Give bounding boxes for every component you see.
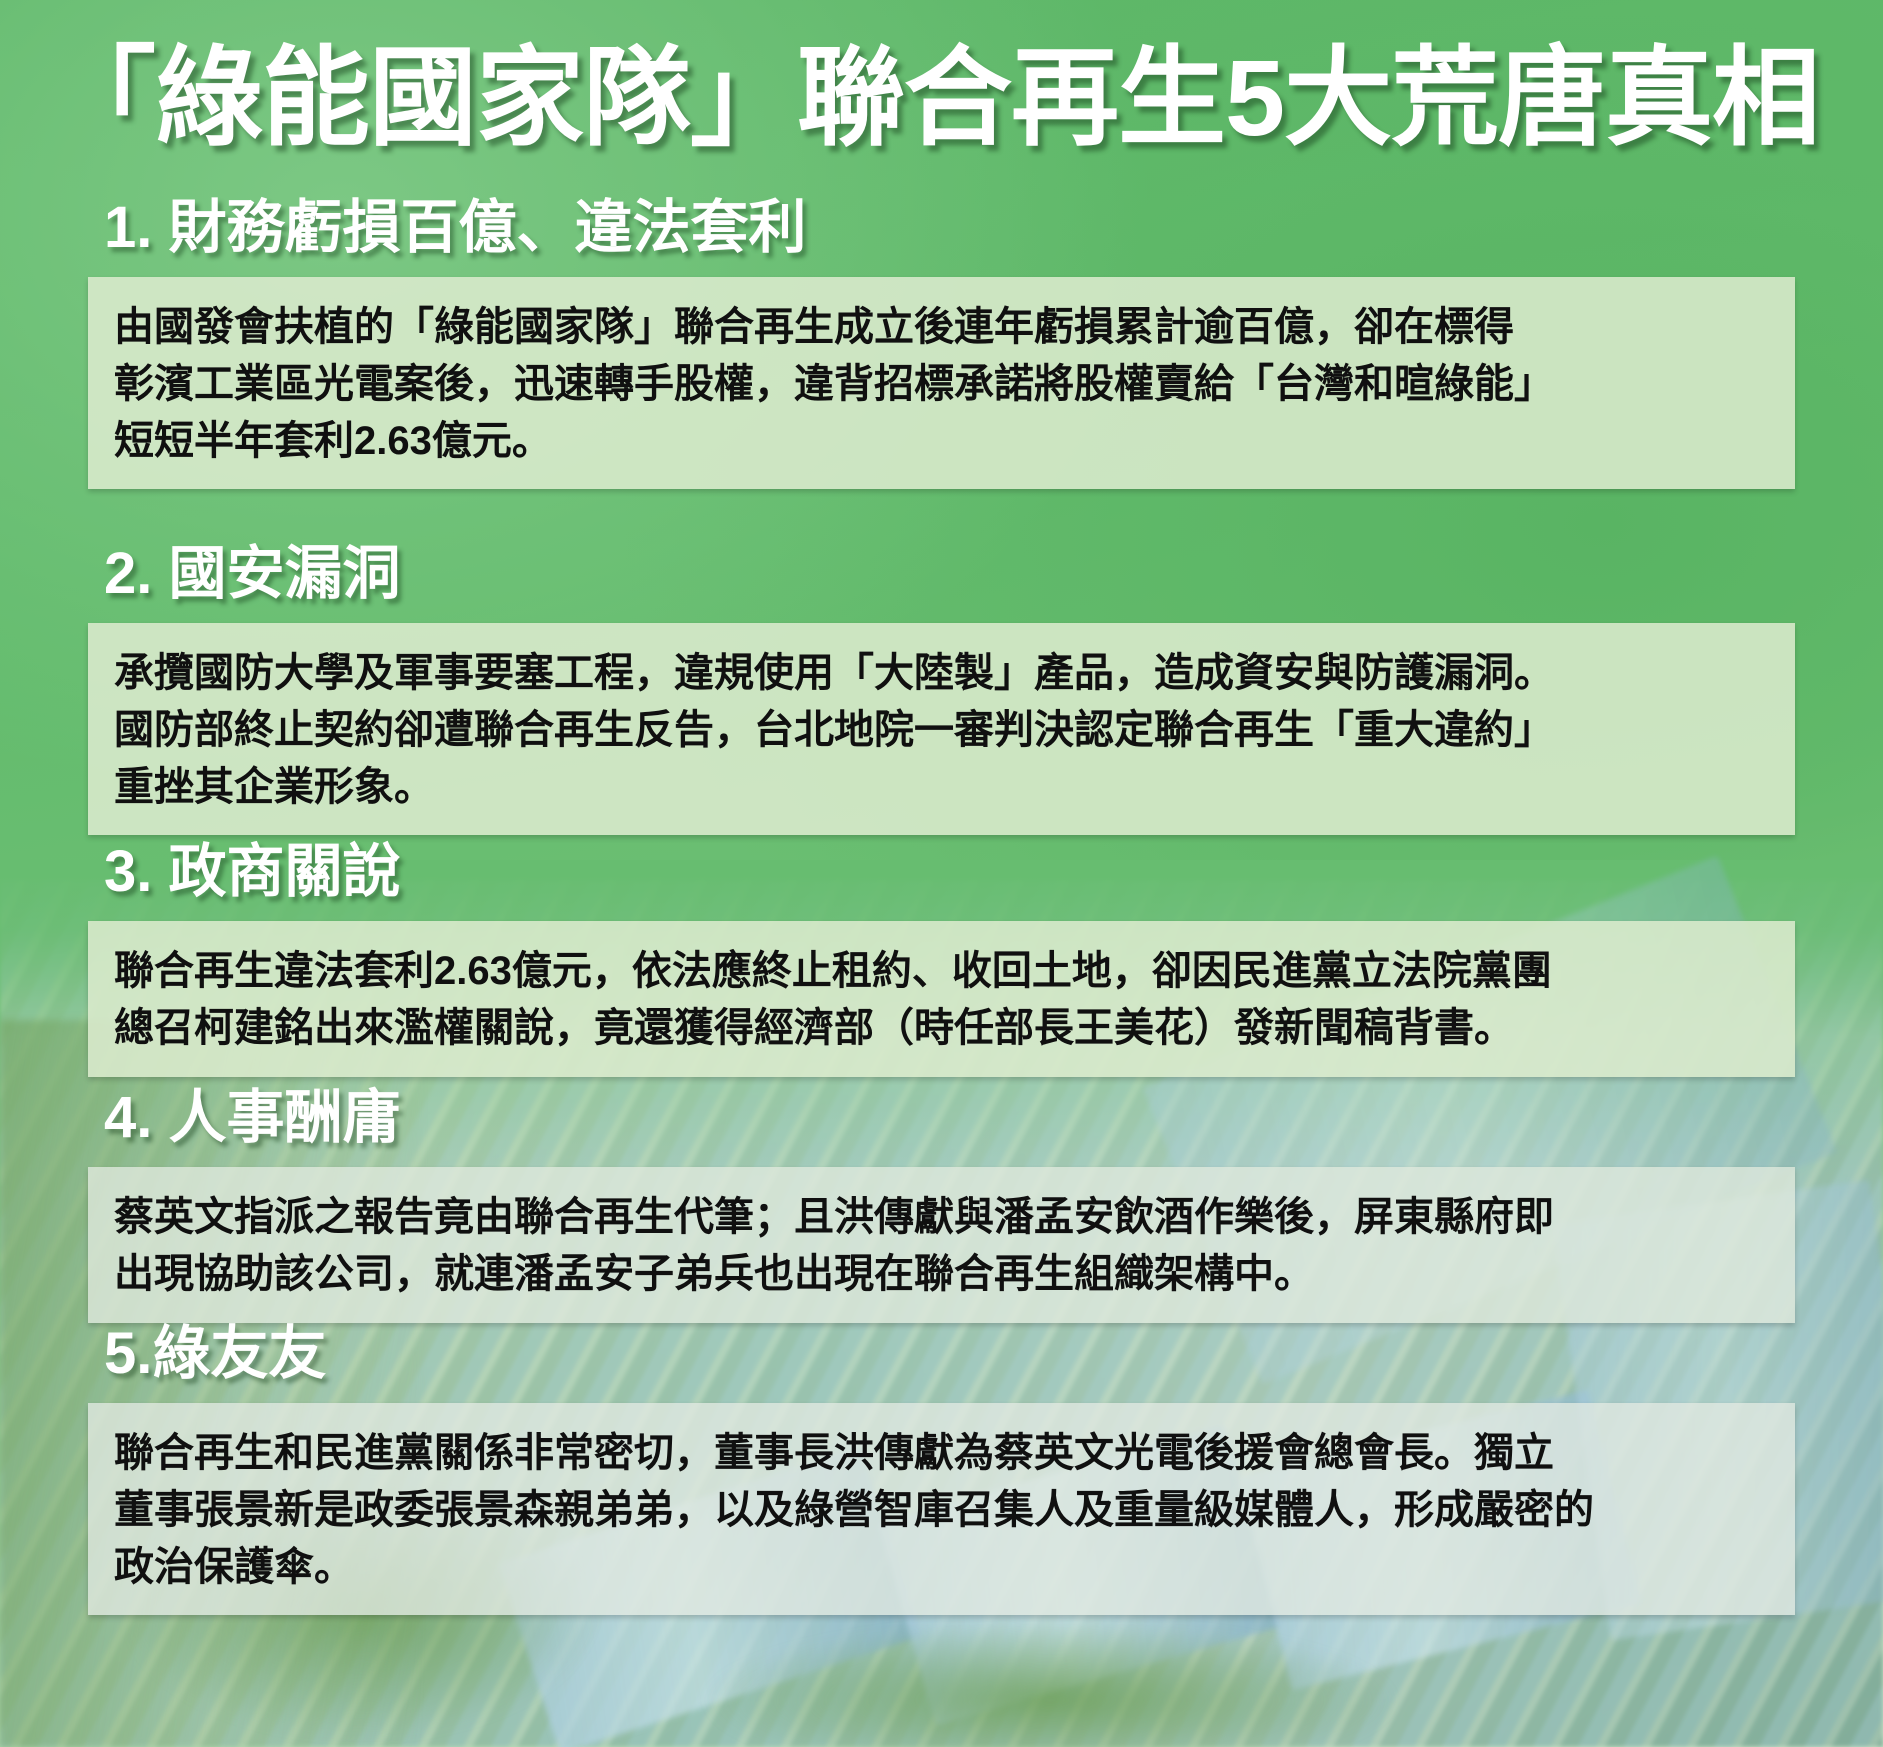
- page-title: 「綠能國家隊」聯合再生5大荒唐真相: [48, 40, 1848, 157]
- section-1-line-2: 彰濱工業區光電案後，迅速轉手股權，違背招標承諾將股權賣給「台灣和暄綠能」: [114, 356, 1769, 413]
- section-4-line-1: 蔡英文指派之報告竟由聯合再生代筆；且洪傳獻與潘孟安飲酒作樂後，屏東縣府即: [114, 1189, 1769, 1246]
- section-4-heading: 4. 人事酬庸: [0, 1086, 1883, 1151]
- section-4: 4. 人事酬庸 蔡英文指派之報告竟由聯合再生代筆；且洪傳獻與潘孟安飲酒作樂後，屏…: [0, 1086, 1883, 1323]
- section-2-heading: 2. 國安漏洞: [0, 542, 1883, 607]
- section-3: 3. 政商關說 聯合再生違法套利2.63億元，依法應終止租約、收回土地，卻因民進…: [0, 840, 1883, 1077]
- section-3-heading: 3. 政商關說: [0, 840, 1883, 905]
- section-2: 2. 國安漏洞 承攬國防大學及軍事要塞工程，違規使用「大陸製」產品，造成資安與防…: [0, 542, 1883, 835]
- section-4-body: 蔡英文指派之報告竟由聯合再生代筆；且洪傳獻與潘孟安飲酒作樂後，屏東縣府即 出現協…: [88, 1167, 1795, 1323]
- section-4-line-2: 出現協助該公司，就連潘孟安子弟兵也出現在聯合再生組織架構中。: [114, 1246, 1769, 1303]
- section-1-heading: 1. 財務虧損百億、違法套利: [0, 196, 1883, 261]
- section-3-line-2: 總召柯建銘出來濫權關說，竟還獲得經濟部（時任部長王美花）發新聞稿背書。: [114, 1000, 1769, 1057]
- section-1: 1. 財務虧損百億、違法套利 由國發會扶植的「綠能國家隊」聯合再生成立後連年虧損…: [0, 196, 1883, 489]
- grass-patch: [700, 1620, 1400, 1747]
- section-5-line-3: 政治保護傘。: [114, 1539, 1769, 1596]
- section-5-line-1: 聯合再生和民進黨關係非常密切，董事長洪傳獻為蔡英文光電後援會總會長。獨立: [114, 1425, 1769, 1482]
- section-3-body: 聯合再生違法套利2.63億元，依法應終止租約、收回土地，卻因民進黨立法院黨團 總…: [88, 921, 1795, 1077]
- section-2-body: 承攬國防大學及軍事要塞工程，違規使用「大陸製」產品，造成資安與防護漏洞。 國防部…: [88, 623, 1795, 835]
- section-3-line-1: 聯合再生違法套利2.63億元，依法應終止租約、收回土地，卻因民進黨立法院黨團: [114, 943, 1769, 1000]
- section-5-heading: 5.綠友友: [0, 1322, 1883, 1387]
- section-1-body: 由國發會扶植的「綠能國家隊」聯合再生成立後連年虧損累計逾百億，卻在標得 彰濱工業…: [88, 277, 1795, 489]
- section-1-line-3: 短短半年套利2.63億元。: [114, 413, 1769, 470]
- section-1-line-1: 由國發會扶植的「綠能國家隊」聯合再生成立後連年虧損累計逾百億，卻在標得: [114, 299, 1769, 356]
- section-5-body: 聯合再生和民進黨關係非常密切，董事長洪傳獻為蔡英文光電後援會總會長。獨立 董事張…: [88, 1403, 1795, 1615]
- section-2-line-3: 重挫其企業形象。: [114, 759, 1769, 816]
- section-2-line-2: 國防部終止契約卻遭聯合再生反告，台北地院一審判決認定聯合再生「重大違約」: [114, 702, 1769, 759]
- section-5-line-2: 董事張景新是政委張景森親弟弟，以及綠營智庫召集人及重量級媒體人，形成嚴密的: [114, 1482, 1769, 1539]
- section-5: 5.綠友友 聯合再生和民進黨關係非常密切，董事長洪傳獻為蔡英文光電後援會總會長。…: [0, 1322, 1883, 1615]
- section-2-line-1: 承攬國防大學及軍事要塞工程，違規使用「大陸製」產品，造成資安與防護漏洞。: [114, 645, 1769, 702]
